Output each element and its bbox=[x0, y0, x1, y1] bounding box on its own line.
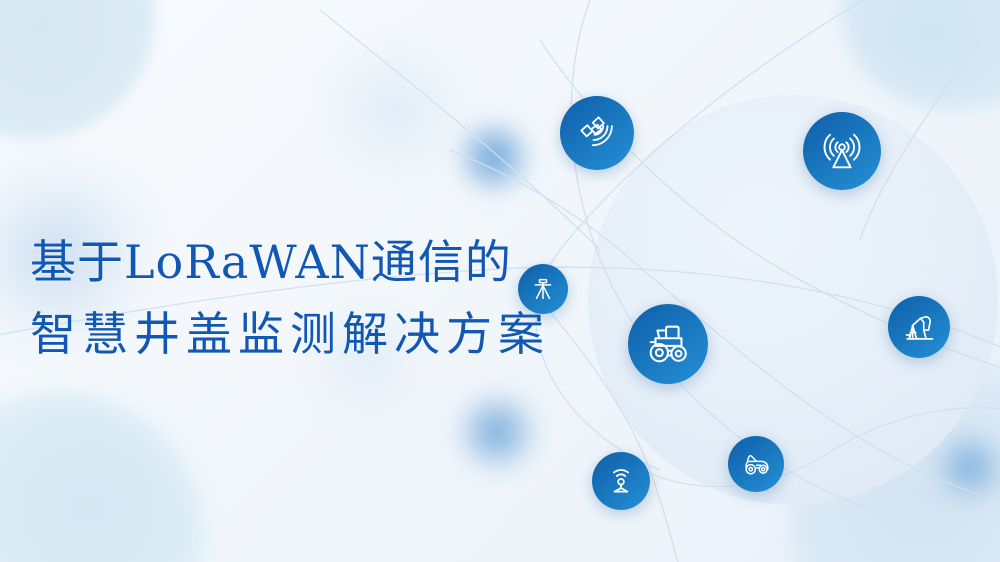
robot-mower-icon bbox=[739, 447, 773, 481]
tractor-icon bbox=[643, 319, 693, 369]
slide-canvas: 基于LoRaWAN通信的 智慧井盖监测解决方案 bbox=[0, 0, 1000, 562]
node-radio-tower[interactable] bbox=[803, 112, 881, 190]
radio-tower-icon bbox=[819, 128, 865, 174]
node-wireless-sensor[interactable] bbox=[592, 452, 650, 510]
node-robot-mower[interactable] bbox=[728, 436, 784, 492]
slide-title: 基于LoRaWAN通信的 智慧井盖监测解决方案 bbox=[30, 226, 590, 370]
node-tractor[interactable] bbox=[628, 304, 708, 384]
node-oil-pump[interactable] bbox=[888, 296, 950, 358]
oil-pumpjack-icon bbox=[900, 308, 938, 346]
title-line-2: 智慧井盖监测解决方案 bbox=[30, 298, 590, 370]
title-line-1: 基于LoRaWAN通信的 bbox=[30, 226, 590, 298]
satellite-dish-icon bbox=[576, 112, 618, 154]
wireless-sensor-icon bbox=[604, 464, 638, 498]
node-satellite[interactable] bbox=[560, 96, 634, 170]
